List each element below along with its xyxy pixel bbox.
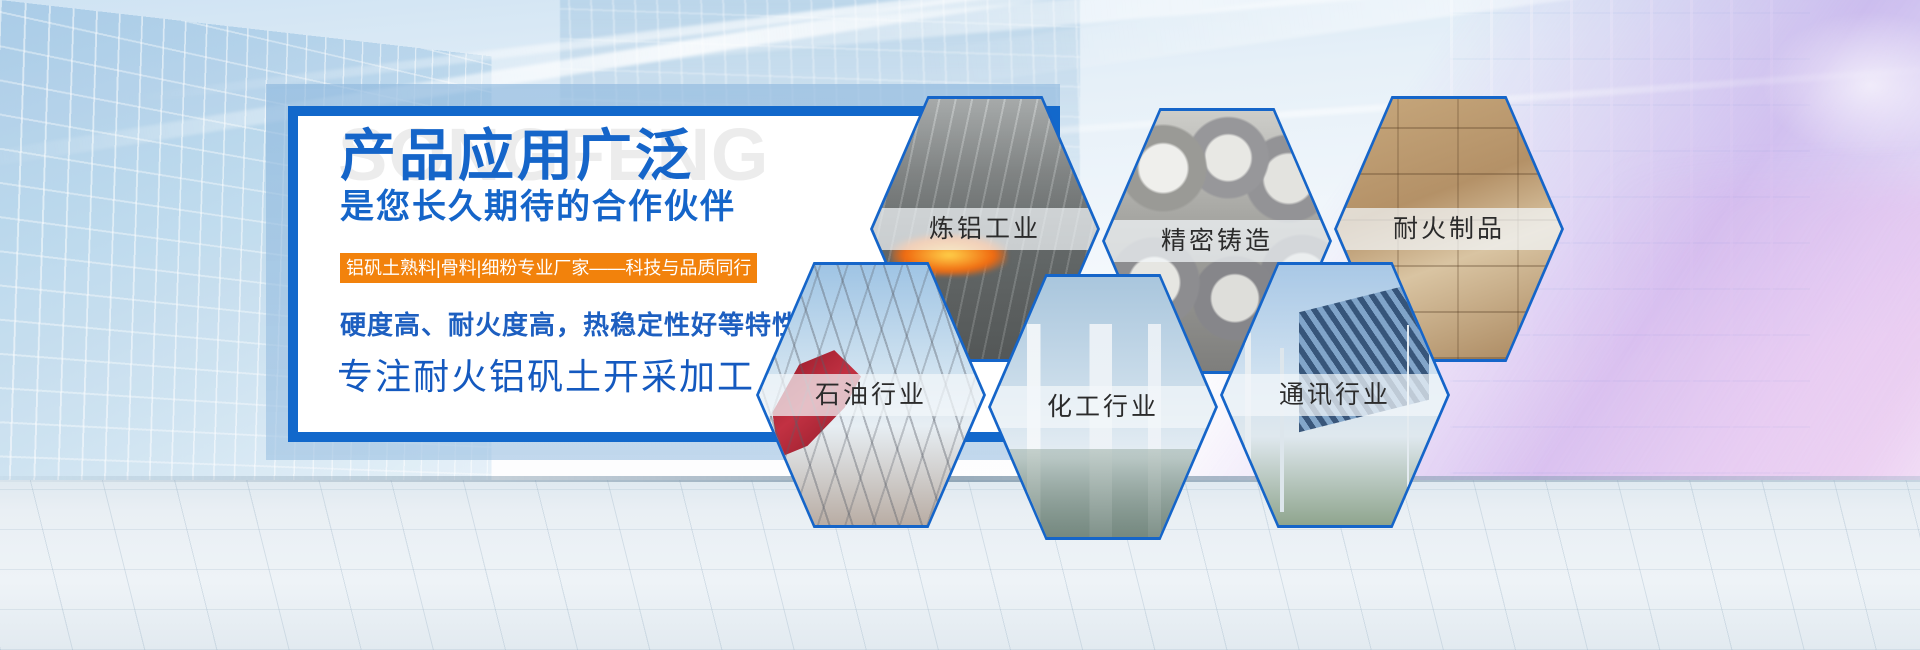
- hex-label: 石油行业: [759, 374, 983, 416]
- subheadline: 是您长久期待的合作伙伴: [340, 190, 736, 224]
- hex-label: 化工行业: [991, 386, 1215, 428]
- hex-label: 通讯行业: [1223, 374, 1447, 416]
- headline: 产品应用广泛: [340, 128, 694, 184]
- hex-label: 炼铝工业: [873, 208, 1097, 250]
- floor-horizon-line: [0, 476, 1920, 482]
- promo-banner: SONGFENG 产品应用广泛 是您长久期待的合作伙伴 铝矾土熟料|骨料|细粉专…: [0, 0, 1920, 650]
- hex-label: 精密铸造: [1105, 220, 1329, 262]
- hex-label: 耐火制品: [1337, 208, 1561, 250]
- tiled-floor: [0, 480, 1920, 650]
- company-tagline: 专注耐火铝矾土开采加工: [337, 348, 755, 400]
- orange-tagline-bar: 铝矾土熟料|骨料|细粉专业厂家——科技与品质同行: [340, 253, 757, 283]
- feature-line: 硬度高、耐火度高，热稳定性好等特性: [340, 305, 799, 342]
